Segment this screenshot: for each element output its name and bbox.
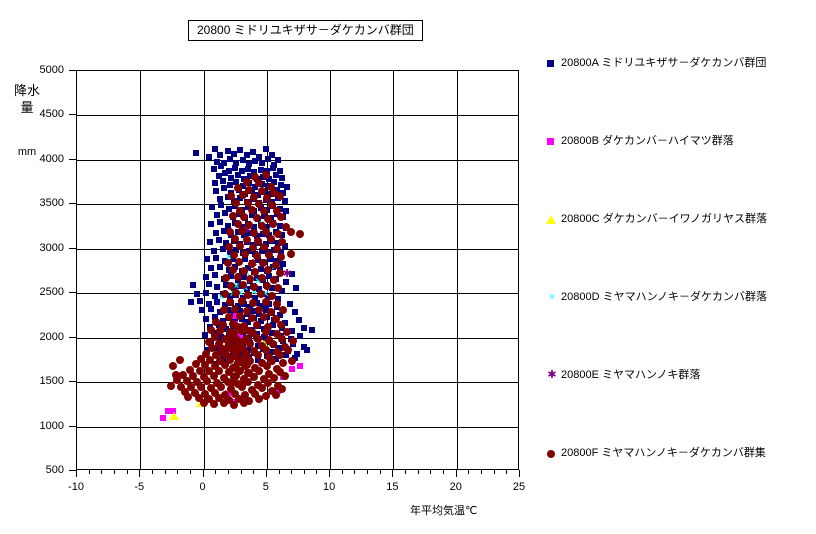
data-point	[265, 156, 271, 162]
y-axis-tick-label: 5000	[18, 64, 64, 76]
data-point	[263, 146, 269, 152]
data-point	[297, 333, 303, 339]
data-point	[204, 256, 210, 262]
data-point	[208, 306, 214, 312]
data-point	[230, 378, 238, 386]
data-point	[262, 171, 270, 179]
legend-item-label: 20800B ダケカンバ－ハイマツ群落	[561, 133, 734, 149]
data-point	[292, 309, 298, 315]
data-point	[309, 327, 315, 333]
x-axis-minor-tick	[443, 470, 444, 474]
data-point	[203, 290, 209, 296]
legend-item-label: 20800D ミヤマハンノキ－ダケカンバ群落	[561, 289, 767, 305]
y-axis-tick-label: 3000	[18, 242, 64, 254]
x-axis-minor-tick	[152, 470, 153, 474]
y-axis-tick	[69, 292, 76, 293]
data-point	[232, 165, 238, 171]
data-point	[213, 230, 219, 236]
data-point	[172, 371, 180, 379]
data-point	[245, 166, 251, 172]
data-point	[237, 147, 243, 153]
data-point: ✱	[282, 269, 292, 279]
x-axis-tick-label: 0	[183, 481, 223, 493]
data-point	[272, 261, 280, 269]
data-point	[301, 325, 307, 331]
x-axis-minor-tick	[241, 470, 242, 474]
data-point	[278, 335, 286, 343]
x-axis-tick-label: 20	[436, 481, 476, 493]
data-point	[167, 382, 175, 390]
data-point	[273, 172, 279, 178]
data-point	[278, 238, 286, 246]
data-point	[253, 214, 261, 222]
data-point	[214, 212, 220, 218]
data-point	[297, 363, 303, 369]
data-point	[252, 158, 258, 164]
data-point	[263, 282, 271, 290]
legend-item[interactable]: ×20800D ミヤマハンノキ－ダケカンバ群落	[545, 289, 811, 305]
gridline-horizontal	[77, 249, 518, 250]
x-axis-tick-label: -10	[56, 481, 96, 493]
data-point	[245, 327, 253, 335]
y-axis-tick	[69, 70, 76, 71]
data-point	[160, 415, 166, 421]
gridline-vertical	[457, 71, 458, 469]
x-axis-minor-tick	[342, 470, 343, 474]
legend-item[interactable]: ✱20800E ミヤマハンノキ群落	[545, 367, 811, 383]
x-axis-minor-tick	[506, 470, 507, 474]
x-axis-tick	[392, 470, 393, 477]
data-point	[188, 299, 194, 305]
data-point	[222, 210, 228, 216]
data-point	[277, 253, 285, 261]
x-axis-minor-tick	[304, 470, 305, 474]
data-point	[248, 260, 256, 268]
data-point	[262, 298, 270, 306]
data-point	[225, 243, 233, 251]
gridline-horizontal	[77, 160, 518, 161]
data-point	[184, 393, 192, 401]
x-axis-minor-tick	[101, 470, 102, 474]
y-axis-tick-label: 1500	[18, 375, 64, 387]
cyan-cross-icon: ×	[545, 289, 559, 305]
data-point	[263, 362, 271, 370]
data-point	[222, 170, 228, 176]
data-point	[276, 351, 284, 359]
x-axis-tick	[456, 470, 457, 477]
data-point	[234, 273, 242, 281]
x-axis-minor-tick	[405, 470, 406, 474]
y-axis-tick	[69, 203, 76, 204]
data-point	[267, 235, 275, 243]
x-axis-tick-label: 25	[499, 481, 539, 493]
y-axis-tick	[69, 426, 76, 427]
data-point	[296, 230, 304, 238]
data-point	[213, 255, 219, 261]
data-point	[169, 362, 177, 370]
data-point	[209, 204, 215, 210]
data-point	[250, 229, 258, 237]
data-point	[277, 213, 285, 221]
legend-item-label: 20800E ミヤマハンノキ群落	[561, 367, 700, 383]
data-point	[212, 272, 218, 278]
navy-square-icon	[545, 55, 559, 71]
legend-item[interactable]: 20800B ダケカンバ－ハイマツ群落	[545, 133, 811, 149]
x-axis-minor-tick	[367, 470, 368, 474]
data-point	[249, 244, 257, 252]
y-axis-tick	[69, 114, 76, 115]
data-point	[269, 220, 277, 228]
data-point	[193, 150, 199, 156]
x-axis-tick-label: 15	[372, 481, 412, 493]
data-point	[289, 366, 295, 372]
data-point	[203, 274, 209, 280]
data-point	[280, 261, 286, 267]
x-axis-minor-tick	[177, 470, 178, 474]
data-point	[234, 323, 242, 331]
data-point	[258, 384, 266, 392]
data-point	[206, 281, 212, 287]
y-axis-tick	[69, 337, 76, 338]
y-axis-tick	[69, 159, 76, 160]
data-point	[216, 237, 222, 243]
data-point	[276, 192, 284, 200]
data-point	[257, 290, 265, 298]
data-point	[240, 399, 248, 407]
data-point	[253, 334, 261, 342]
data-point	[229, 212, 237, 220]
plot-area: ××××××××××××××××✱✱✱	[76, 70, 519, 470]
y-axis-tick-label: 4500	[18, 108, 64, 120]
data-point	[284, 184, 290, 190]
data-point	[203, 316, 209, 322]
x-axis-tick-label: -5	[119, 481, 159, 493]
data-point	[202, 332, 208, 338]
data-point	[235, 172, 241, 178]
data-point	[281, 372, 289, 380]
x-axis-minor-tick	[228, 470, 229, 474]
data-point	[248, 206, 256, 214]
data-point	[211, 166, 217, 172]
legend-item[interactable]: 20800A ミドリユキザサ－ダケカンバ群団	[545, 55, 811, 71]
data-point	[296, 317, 302, 323]
data-point	[217, 152, 223, 158]
scatter-chart: 20800 ミドリユキザサ－ダケカンバ群団 降水量 mm 年平均気温℃ -10-…	[0, 0, 816, 534]
legend-marker-glyph	[547, 138, 554, 145]
data-point	[245, 221, 253, 229]
data-point	[238, 297, 246, 305]
x-axis-minor-tick	[165, 470, 166, 474]
gridline-horizontal	[77, 427, 518, 428]
data-point	[217, 219, 223, 225]
y-axis-tick-label: 500	[18, 464, 64, 476]
legend-marker-glyph	[547, 450, 555, 458]
x-axis-minor-tick	[494, 470, 495, 474]
data-point	[258, 274, 266, 282]
x-axis-tick	[519, 470, 520, 477]
data-point	[220, 399, 228, 407]
x-axis-minor-tick	[481, 470, 482, 474]
legend-item[interactable]: 20800F ミヤマハンノキ－ダケカンバ群集	[545, 445, 811, 461]
data-point	[276, 269, 284, 277]
data-point	[240, 213, 248, 221]
x-axis-tick	[266, 470, 267, 477]
x-axis-minor-tick	[190, 470, 191, 474]
magenta-square-icon	[545, 133, 559, 149]
y-axis-tick-label: 2500	[18, 286, 64, 298]
x-axis-minor-tick	[127, 470, 128, 474]
y-axis-tick	[69, 248, 76, 249]
data-point	[270, 165, 276, 171]
y-axis-tick-label: 1000	[18, 420, 64, 432]
data-point	[279, 306, 287, 314]
data-point	[243, 361, 251, 369]
legend-marker-glyph	[546, 215, 556, 224]
y-axis-tick	[69, 470, 76, 471]
legend-marker-glyph	[547, 60, 554, 67]
data-point	[243, 236, 251, 244]
data-point	[199, 307, 205, 313]
y-axis-tick	[69, 381, 76, 382]
data-point	[227, 156, 233, 162]
data-point	[293, 285, 299, 291]
data-point	[232, 199, 240, 207]
data-point	[240, 157, 246, 163]
data-point	[287, 250, 295, 258]
data-point	[169, 412, 179, 420]
data-point	[243, 178, 251, 186]
data-point	[238, 381, 246, 389]
darkred-circle-icon	[545, 445, 559, 461]
y-axis-tick-label: 4000	[18, 153, 64, 165]
x-axis-tick-label: 5	[246, 481, 286, 493]
data-point	[225, 148, 231, 154]
yellow-triangle-icon	[545, 211, 559, 227]
data-point	[208, 265, 214, 271]
data-point	[206, 154, 212, 160]
data-point	[270, 276, 278, 284]
x-axis-tick	[139, 470, 140, 477]
x-axis-minor-tick	[430, 470, 431, 474]
gridline-horizontal	[77, 204, 518, 205]
x-axis-minor-tick	[418, 470, 419, 474]
data-point	[272, 391, 280, 399]
legend-item-label: 20800A ミドリユキザサ－ダケカンバ群団	[561, 55, 766, 71]
data-point	[227, 182, 233, 188]
x-axis-minor-tick	[291, 470, 292, 474]
purple-asterisk-icon: ✱	[545, 367, 559, 383]
y-axis-tick-label: 3500	[18, 197, 64, 209]
data-point	[197, 298, 203, 304]
data-point	[230, 401, 238, 409]
data-point	[218, 202, 224, 208]
data-point	[288, 357, 296, 365]
data-point	[279, 175, 285, 181]
legend-marker-glyph: ✱	[545, 367, 559, 383]
gridline-vertical	[204, 71, 205, 469]
data-point	[222, 274, 230, 282]
x-axis-tick	[203, 470, 204, 477]
data-point	[253, 321, 261, 329]
gridline-vertical	[393, 71, 394, 469]
data-point	[239, 281, 247, 289]
x-axis-tick	[329, 470, 330, 477]
data-point	[221, 185, 227, 191]
data-point	[220, 178, 226, 184]
legend-item-label: 20800C ダケカンバ－イワノガリヤス群落	[561, 211, 767, 227]
data-point	[194, 291, 200, 297]
legend-marker-glyph: ×	[545, 289, 559, 305]
data-point	[262, 328, 270, 336]
x-axis-minor-tick	[380, 470, 381, 474]
data-point	[190, 282, 196, 288]
y-axis-tick-label: 2000	[18, 331, 64, 343]
data-point	[255, 395, 263, 403]
data-point	[210, 400, 218, 408]
data-point	[274, 230, 282, 238]
data-point	[200, 399, 208, 407]
data-point	[250, 149, 256, 155]
x-axis-minor-tick	[114, 470, 115, 474]
data-point	[213, 188, 219, 194]
data-point	[217, 196, 223, 202]
data-point	[211, 248, 217, 254]
x-axis-minor-tick	[215, 470, 216, 474]
gridline-horizontal	[77, 115, 518, 116]
data-point	[273, 245, 281, 253]
data-point	[259, 160, 265, 166]
x-axis-minor-tick	[468, 470, 469, 474]
x-axis-minor-tick	[354, 470, 355, 474]
gridline-vertical	[140, 71, 141, 469]
x-axis-minor-tick	[253, 470, 254, 474]
x-axis-minor-tick	[279, 470, 280, 474]
x-axis-minor-tick	[316, 470, 317, 474]
data-point	[287, 228, 295, 236]
gridline-horizontal	[77, 293, 518, 294]
legend-item-label: 20800F ミヤマハンノキ－ダケカンバ群集	[561, 445, 766, 461]
data-point	[176, 356, 184, 364]
data-point	[253, 252, 261, 260]
data-point	[208, 221, 214, 227]
data-point	[212, 180, 218, 186]
gridline-vertical	[330, 71, 331, 469]
legend-item[interactable]: 20800C ダケカンバ－イワノガリヤス群落	[545, 211, 811, 227]
data-point	[207, 239, 213, 245]
data-point	[269, 340, 277, 348]
x-axis-tick-label: 10	[309, 481, 349, 493]
data-point	[238, 227, 246, 235]
data-point	[287, 301, 293, 307]
gridline-horizontal	[77, 382, 518, 383]
data-point	[304, 347, 310, 353]
x-axis-minor-tick	[89, 470, 90, 474]
data-point	[217, 264, 223, 270]
data-point	[218, 163, 224, 169]
x-axis-tick	[76, 470, 77, 477]
